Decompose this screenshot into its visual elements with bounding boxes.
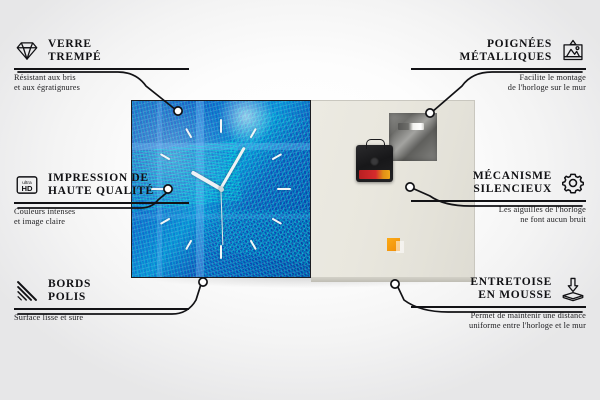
clock-minute-hand <box>220 147 247 190</box>
clock-tick <box>220 119 222 189</box>
diamond-icon <box>14 38 40 64</box>
clock-movement <box>356 145 393 182</box>
callout-divider <box>14 202 189 204</box>
callout-bords-polis: BORDSPOLIS Surface lisse et sûre <box>14 278 189 323</box>
callout-header: ultra HD IMPRESSION DEHAUTE QUALITÉ <box>14 172 189 198</box>
callout-divider <box>411 200 586 202</box>
product-feature-infographic: VERRETREMPÉ Résistant aux briset aux égr… <box>0 0 600 400</box>
callout-divider <box>411 306 586 308</box>
callout-title: VERRETREMPÉ <box>48 38 101 64</box>
callout-subtitle: Surface lisse et sûre <box>14 313 189 324</box>
svg-text:HD: HD <box>21 184 33 193</box>
callout-subtitle: Résistant aux briset aux égratignures <box>14 73 189 94</box>
clock-tick <box>221 188 291 190</box>
ultra-hd-badge-icon: ultra HD <box>14 172 40 198</box>
arrow-down-onto-layer-icon <box>560 276 586 302</box>
metal-hanger <box>389 113 437 161</box>
hanger-slot <box>398 123 424 130</box>
callout-poignees-metalliques: POIGNÉESMÉTALLIQUES Facilite le montaged… <box>411 38 586 94</box>
callout-entretoise-en-mousse: ENTRETOISEEN MOUSSE Permet de maintenir … <box>411 276 586 332</box>
callout-impression-haute-qualite: ultra HD IMPRESSION DEHAUTE QUALITÉ Coul… <box>14 172 189 228</box>
gear-icon <box>560 170 586 196</box>
callout-divider <box>411 68 586 70</box>
callout-title: ENTRETOISEEN MOUSSE <box>470 276 552 302</box>
callout-header: VERRETREMPÉ <box>14 38 189 64</box>
callout-title: BORDSPOLIS <box>48 278 91 304</box>
callout-divider <box>14 308 189 310</box>
callout-header: POIGNÉESMÉTALLIQUES <box>411 38 586 64</box>
callout-header: ENTRETOISEEN MOUSSE <box>411 276 586 302</box>
polished-edge-icon <box>14 278 40 304</box>
callout-subtitle: Couleurs intenseset image claire <box>14 207 189 228</box>
callout-title: MÉCANISMESILENCIEUX <box>473 170 552 196</box>
callout-verre-trempe: VERRETREMPÉ Résistant aux briset aux égr… <box>14 38 189 94</box>
hanging-picture-frame-icon <box>560 38 586 64</box>
movement-shaft <box>370 157 379 166</box>
callout-title: POIGNÉESMÉTALLIQUES <box>460 38 552 64</box>
callout-subtitle: Permet de maintenir une distanceuniforme… <box>411 311 586 332</box>
callout-subtitle: Facilite le montagede l'horloge sur le m… <box>411 73 586 94</box>
movement-bail <box>366 139 385 149</box>
battery <box>359 170 390 179</box>
callout-mecanisme-silencieux: MÉCANISMESILENCIEUX Les aiguilles de l'h… <box>411 170 586 226</box>
callout-subtitle: Les aiguilles de l'horlogene font aucun … <box>411 205 586 226</box>
callout-title: IMPRESSION DEHAUTE QUALITÉ <box>48 172 154 198</box>
clock-center-cap <box>219 187 224 192</box>
foam-spacer <box>387 238 400 251</box>
callout-header: BORDSPOLIS <box>14 278 189 304</box>
callout-header: MÉCANISMESILENCIEUX <box>411 170 586 196</box>
callout-divider <box>14 68 189 70</box>
